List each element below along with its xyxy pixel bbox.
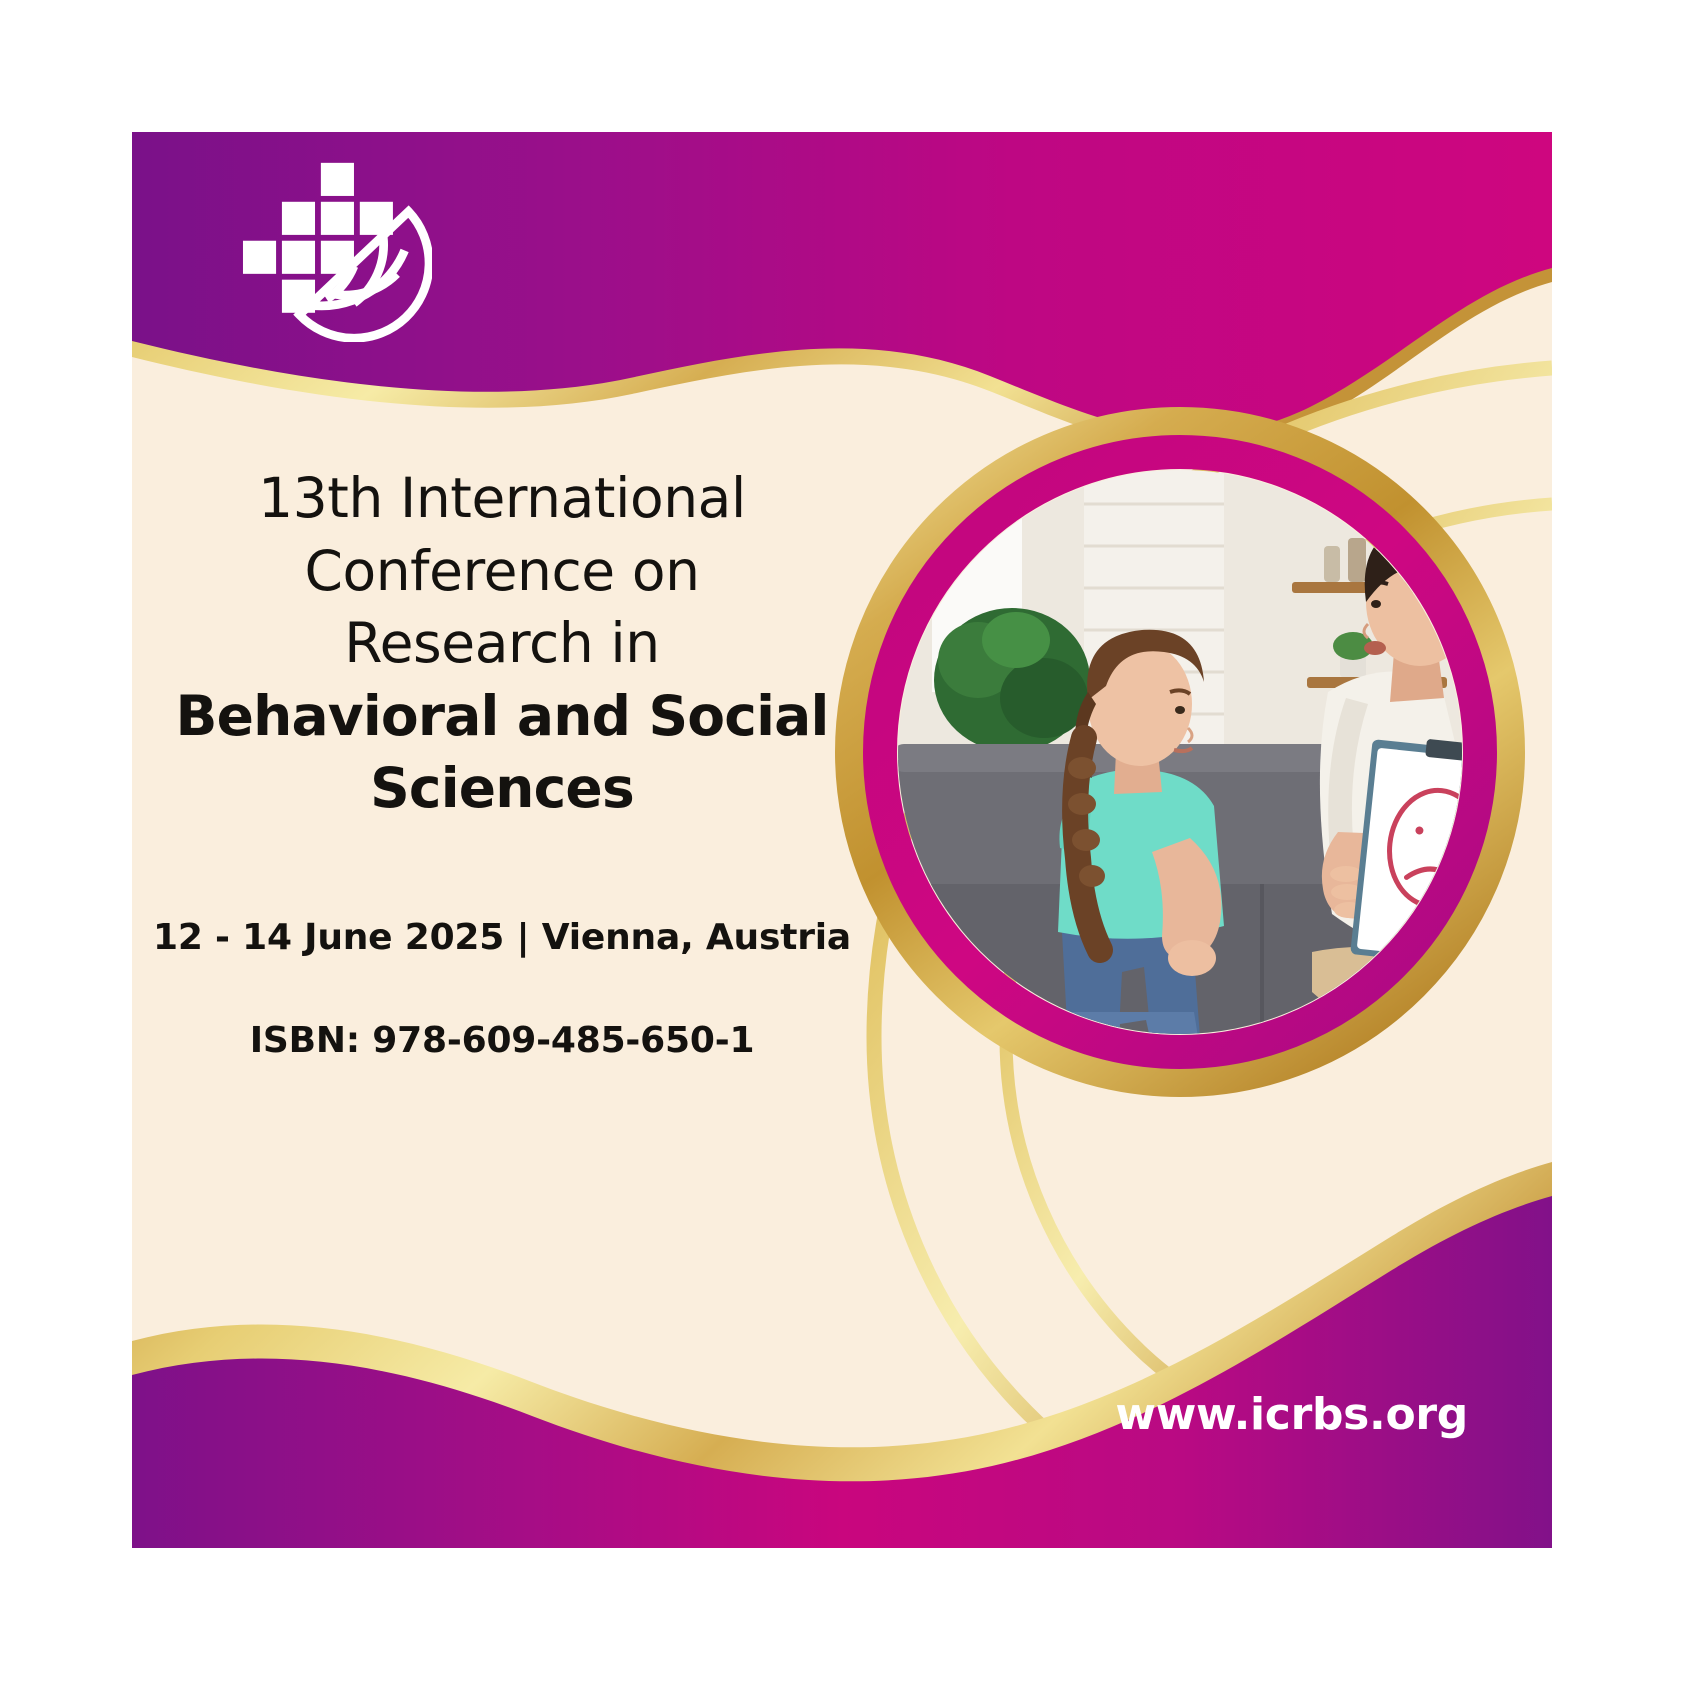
conference-globe-logo — [237, 157, 432, 342]
title-line-5: Sciences — [152, 752, 852, 825]
website-url[interactable]: www.icrbs.org — [1115, 1389, 1468, 1440]
title-line-4: Behavioral and Social — [152, 680, 852, 753]
poster-text-column: 13th International Conference on Researc… — [152, 462, 852, 1061]
title-line-2: Conference on — [152, 535, 852, 608]
dates-location: 12 - 14 June 2025 | Vienna, Austria — [152, 917, 852, 958]
conference-details: 12 - 14 June 2025 | Vienna, Austria ISBN… — [152, 917, 852, 1061]
title-line-3: Research in — [152, 607, 852, 680]
title-line-1: 13th International — [152, 462, 852, 535]
conference-poster: 13th International Conference on Researc… — [132, 132, 1552, 1548]
page-title: 13th International Conference on Researc… — [152, 462, 852, 825]
isbn-line: ISBN: 978-609-485-650-1 — [152, 1020, 852, 1061]
